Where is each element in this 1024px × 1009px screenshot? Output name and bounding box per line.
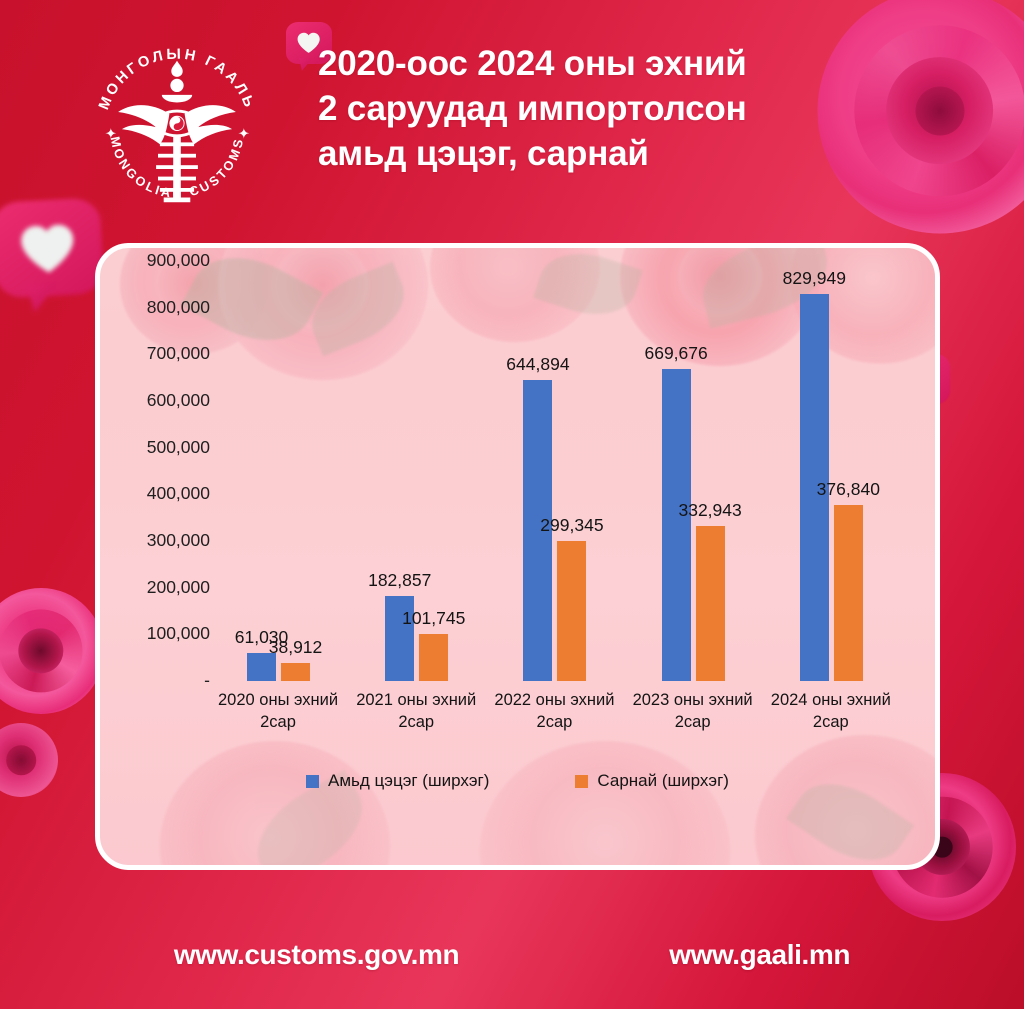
bar-value-label: 182,857 [368, 570, 431, 591]
title-line-1: 2020-оос 2024 оны эхний [318, 42, 918, 87]
bar-group: 644,894299,3452022 оны эхний 2сар [523, 261, 587, 681]
x-axis-category-label: 2023 оны эхний 2сар [617, 689, 769, 733]
x-axis-category-label: 2020 оны эхний 2сар [202, 689, 354, 733]
y-axis-tick: 500,000 [118, 437, 210, 458]
title-line-2: 2 саруудад импортолсон [318, 87, 918, 132]
bar-group: 61,03038,9122020 оны эхний 2сар [247, 261, 311, 681]
chart-legend: Амьд цэцэг (ширхэг)Сарнай (ширхэг) [100, 771, 935, 791]
bar-roses[interactable]: 376,840 [834, 505, 863, 681]
bar-live-flowers[interactable]: 669,676 [662, 369, 691, 682]
rose-decoration-bottom-left [0, 723, 58, 797]
bar-group: 669,676332,9432023 оны эхний 2сар [662, 261, 726, 681]
bar-roses[interactable]: 332,943 [696, 526, 725, 681]
svg-text:✦: ✦ [105, 127, 117, 143]
bar-value-label: 101,745 [402, 608, 465, 629]
y-axis-tick: 700,000 [118, 343, 210, 364]
bar-value-label: 38,912 [269, 637, 323, 658]
y-axis-tick: 100,000 [118, 623, 210, 644]
bar-roses[interactable]: 101,745 [419, 634, 448, 681]
rose-decoration-left [0, 588, 104, 714]
y-axis-tick: - [118, 670, 210, 691]
page-title: 2020-оос 2024 оны эхний 2 саруудад импор… [318, 42, 918, 176]
footer-url-customs[interactable]: www.customs.gov.mn [174, 939, 459, 971]
y-axis-tick: 400,000 [118, 483, 210, 504]
footer-url-gaali[interactable]: www.gaali.mn [669, 939, 850, 971]
bar-value-label: 332,943 [678, 500, 741, 521]
bar-value-label: 376,840 [817, 479, 880, 500]
legend-swatch [575, 775, 588, 788]
bar-roses[interactable]: 299,345 [557, 541, 586, 681]
bar-roses[interactable]: 38,912 [281, 663, 310, 681]
chart-card: 900,000800,000700,000600,000500,000400,0… [95, 243, 940, 870]
y-axis-tick: 200,000 [118, 577, 210, 598]
legend-item[interactable]: Амьд цэцэг (ширхэг) [306, 771, 489, 791]
bar-chart: 900,000800,000700,000600,000500,000400,0… [100, 248, 935, 865]
y-axis-tick: 300,000 [118, 530, 210, 551]
y-axis-tick: 600,000 [118, 390, 210, 411]
legend-swatch [306, 775, 319, 788]
mongolian-customs-logo: МОНГОЛЫН ГААЛЬ MONGOLIAN CUSTOMS ✦ ✦ [82, 36, 272, 226]
x-axis-category-label: 2024 оны эхний 2сар [755, 689, 907, 733]
legend-item[interactable]: Сарнай (ширхэг) [575, 771, 729, 791]
y-axis-tick: 800,000 [118, 297, 210, 318]
y-axis-tick: 900,000 [118, 250, 210, 271]
bar-value-label: 644,894 [506, 354, 569, 375]
svg-text:✦: ✦ [238, 127, 250, 143]
legend-label: Сарнай (ширхэг) [597, 771, 729, 791]
bar-group: 182,857101,7452021 оны эхний 2сар [385, 261, 449, 681]
x-axis-category-label: 2021 оны эхний 2сар [340, 689, 492, 733]
x-axis-category-label: 2022 оны эхний 2сар [478, 689, 630, 733]
poster-canvas: МОНГОЛЫН ГААЛЬ MONGOLIAN CUSTOMS ✦ ✦ [0, 0, 1024, 1009]
footer: www.customs.gov.mn www.gaali.mn [0, 929, 1024, 981]
bar-group: 829,949376,8402024 оны эхний 2сар [800, 261, 864, 681]
bar-value-label: 669,676 [644, 343, 707, 364]
bar-value-label: 829,949 [783, 268, 846, 289]
legend-label: Амьд цэцэг (ширхэг) [328, 771, 489, 791]
bar-value-label: 299,345 [540, 515, 603, 536]
title-line-3: амьд цэцэг, сарнай [318, 132, 918, 177]
